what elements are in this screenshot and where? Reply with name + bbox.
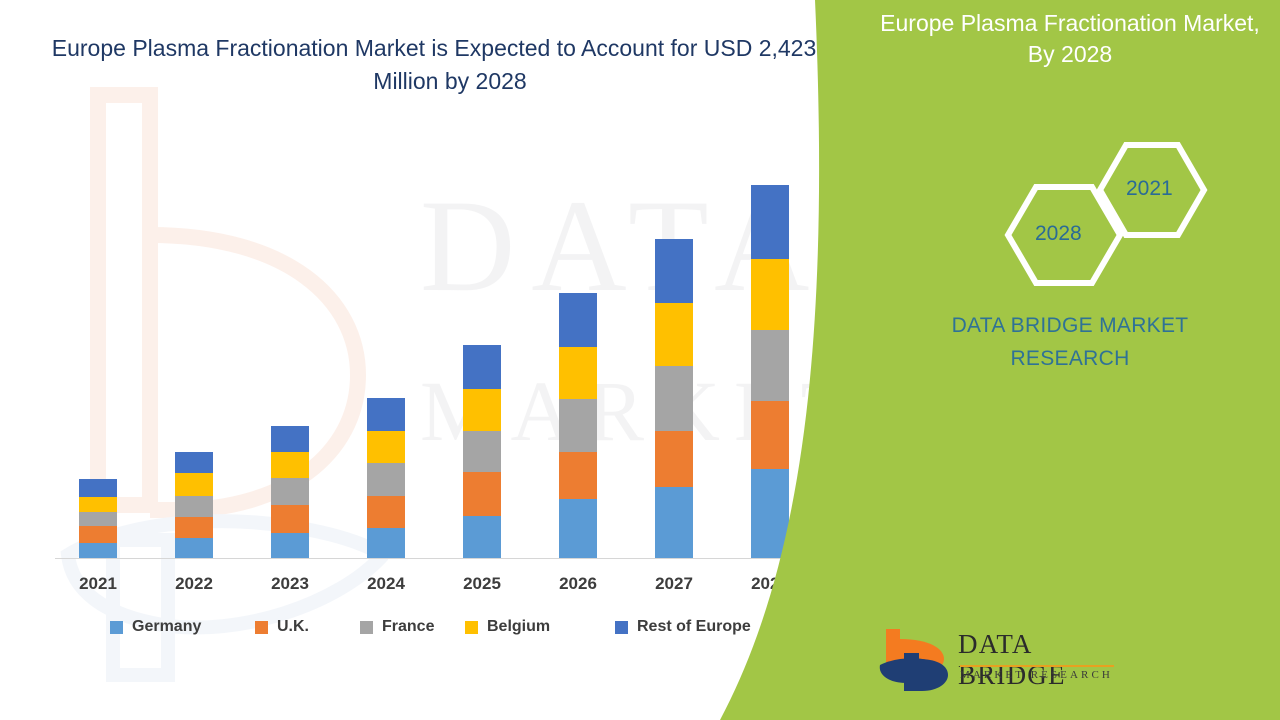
legend-label: France (382, 618, 434, 636)
panel-content: Europe Plasma Fractionation Market, By 2… (860, 0, 1280, 720)
data-bridge-logo: DATA BRIDGE MARKET RESEARCH (878, 625, 1118, 697)
bar-segment-france[interactable] (79, 512, 117, 526)
bar-segment-france[interactable] (271, 478, 309, 505)
panel-brand-line-2: RESEARCH (860, 343, 1280, 376)
bar-segment-rest-of-europe[interactable] (655, 239, 693, 303)
bar-segment-france[interactable] (367, 463, 405, 496)
bar-segment-u-k[interactable] (271, 505, 309, 533)
x-axis-label-2024: 2024 (346, 574, 426, 594)
bar-segment-france[interactable] (463, 431, 501, 472)
bar-2028[interactable] (751, 185, 789, 558)
hexagon-label-2021: 2021 (1126, 177, 1173, 201)
x-axis-label-2021: 2021 (58, 574, 138, 594)
chart-plot-area: 20212022202320242025202620272028 (0, 0, 880, 720)
legend-label: Belgium (487, 618, 550, 636)
legend-label: Germany (132, 618, 201, 636)
legend-swatch-icon (360, 621, 373, 634)
bar-segment-u-k[interactable] (175, 517, 213, 538)
bar-segment-belgium[interactable] (655, 303, 693, 366)
x-axis-label-2023: 2023 (250, 574, 330, 594)
bar-segment-germany[interactable] (559, 499, 597, 558)
bar-segment-germany[interactable] (751, 469, 789, 558)
legend-label: Rest of Europe (637, 618, 751, 636)
bar-segment-france[interactable] (559, 399, 597, 452)
legend-item-rest-of-europe[interactable]: Rest of Europe (615, 616, 751, 638)
panel-brand-line-1: DATA BRIDGE MARKET (860, 310, 1280, 343)
bar-2025[interactable] (463, 345, 501, 558)
bar-segment-u-k[interactable] (463, 472, 501, 516)
bar-2022[interactable] (175, 452, 213, 558)
bar-segment-belgium[interactable] (175, 473, 213, 496)
logo-mark-icon (878, 625, 956, 695)
bar-segment-germany[interactable] (463, 516, 501, 558)
panel-title-line-1: Europe Plasma Fractionation Market, (866, 8, 1274, 39)
legend-item-belgium[interactable]: Belgium (465, 616, 550, 638)
bar-segment-rest-of-europe[interactable] (79, 479, 117, 497)
bar-segment-u-k[interactable] (559, 452, 597, 499)
bar-segment-u-k[interactable] (367, 496, 405, 528)
bar-segment-rest-of-europe[interactable] (367, 398, 405, 431)
bar-segment-belgium[interactable] (271, 452, 309, 478)
bar-segment-rest-of-europe[interactable] (175, 452, 213, 473)
bar-segment-belgium[interactable] (79, 497, 117, 512)
legend-item-france[interactable]: France (360, 616, 434, 638)
bar-segment-belgium[interactable] (463, 389, 501, 431)
bar-2023[interactable] (271, 426, 309, 558)
bar-segment-germany[interactable] (175, 538, 213, 558)
bar-segment-u-k[interactable] (751, 401, 789, 469)
bar-segment-france[interactable] (655, 366, 693, 431)
bar-2021[interactable] (79, 479, 117, 558)
hexagon-shapes (1000, 140, 1230, 290)
chart-legend: GermanyU.K.FranceBelgiumRest of Europe (0, 616, 880, 640)
bar-segment-rest-of-europe[interactable] (559, 293, 597, 347)
bar-segment-germany[interactable] (655, 487, 693, 558)
x-axis-label-2027: 2027 (634, 574, 714, 594)
legend-label: U.K. (277, 618, 309, 636)
x-axis-label-2026: 2026 (538, 574, 618, 594)
legend-swatch-icon (615, 621, 628, 634)
legend-swatch-icon (110, 621, 123, 634)
bar-segment-germany[interactable] (367, 528, 405, 558)
hexagon-label-2028: 2028 (1035, 222, 1082, 246)
x-axis-label-2022: 2022 (154, 574, 234, 594)
x-axis-label-2028: 2028 (730, 574, 810, 594)
x-axis-label-2025: 2025 (442, 574, 522, 594)
logo-divider (960, 665, 1114, 667)
bar-segment-rest-of-europe[interactable] (751, 185, 789, 259)
panel-brand-text: DATA BRIDGE MARKET RESEARCH (860, 310, 1280, 375)
legend-swatch-icon (465, 621, 478, 634)
bar-2027[interactable] (655, 239, 693, 558)
x-axis-line (55, 558, 820, 559)
legend-item-u-k[interactable]: U.K. (255, 616, 309, 638)
logo-subtitle: MARKET RESEARCH (960, 669, 1113, 681)
bar-segment-france[interactable] (175, 496, 213, 517)
hexagon-badges: 2028 2021 (1000, 140, 1230, 290)
bar-segment-belgium[interactable] (367, 431, 405, 463)
bar-segment-belgium[interactable] (751, 259, 789, 330)
bar-2026[interactable] (559, 293, 597, 558)
legend-swatch-icon (255, 621, 268, 634)
bar-segment-germany[interactable] (271, 533, 309, 558)
bar-segment-belgium[interactable] (559, 347, 597, 399)
bar-segment-france[interactable] (751, 330, 789, 401)
bar-segment-germany[interactable] (79, 543, 117, 558)
panel-title-line-2: By 2028 (866, 39, 1274, 70)
bar-segment-rest-of-europe[interactable] (463, 345, 501, 389)
bar-segment-u-k[interactable] (79, 526, 117, 543)
bar-segment-u-k[interactable] (655, 431, 693, 487)
infographic-canvas: DATA BRIDGE MARKET RESEARCH Europe Plasm… (0, 0, 1280, 720)
bar-segment-rest-of-europe[interactable] (271, 426, 309, 452)
panel-title: Europe Plasma Fractionation Market, By 2… (860, 8, 1280, 70)
logo-title: DATA BRIDGE (958, 629, 1118, 691)
legend-item-germany[interactable]: Germany (110, 616, 201, 638)
bar-2024[interactable] (367, 398, 405, 558)
